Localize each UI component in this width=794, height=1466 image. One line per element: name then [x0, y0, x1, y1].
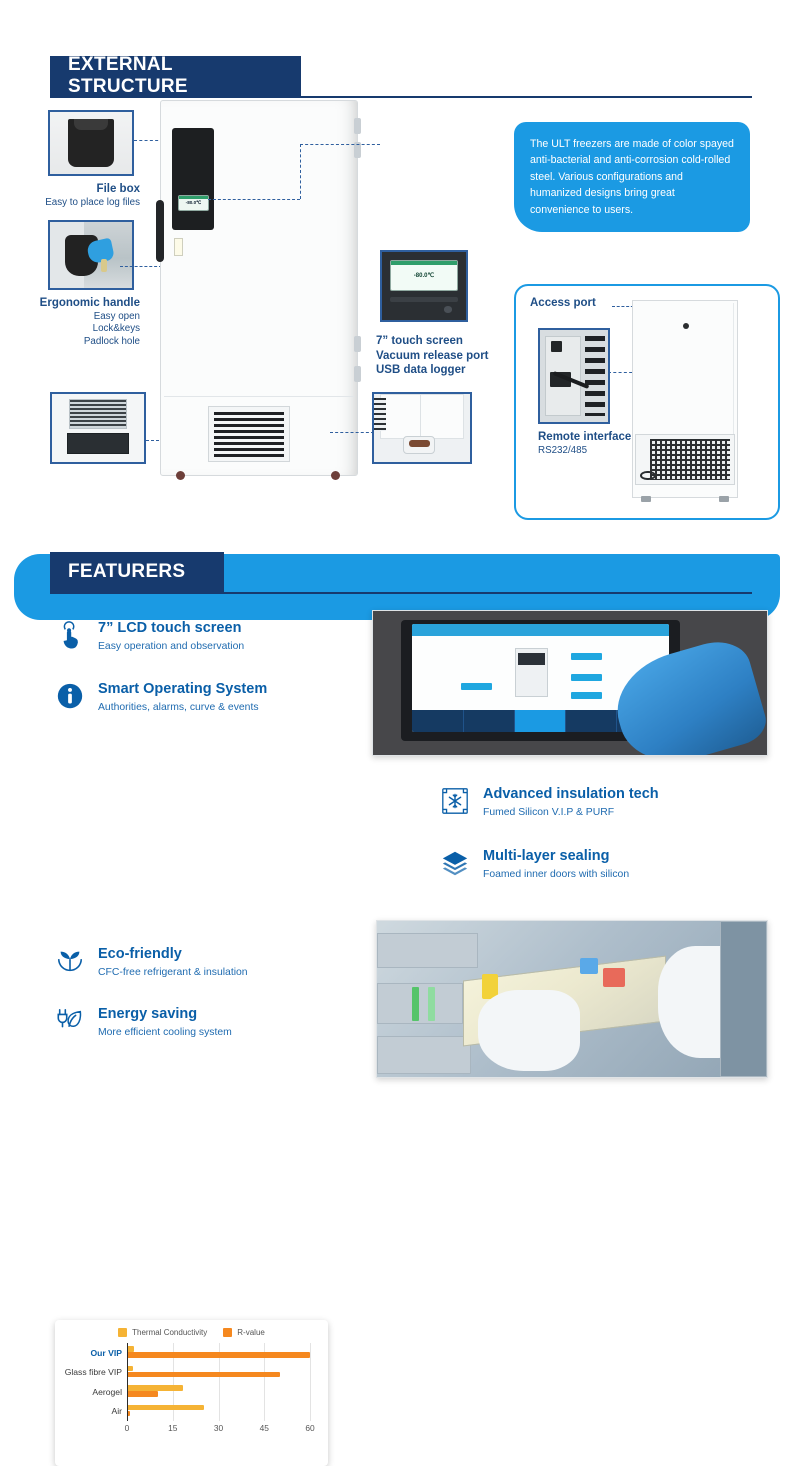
access-port-card: Access port Remote interface RS2: [514, 284, 780, 520]
access-port-knob: [683, 323, 689, 329]
legend-swatch-1: [223, 1328, 232, 1337]
ergonomic-handle-title: Ergonomic handle: [8, 296, 140, 311]
chart-gridline: [310, 1343, 311, 1421]
connector-screen-h1: [208, 199, 300, 200]
chart-category-label: Air: [111, 1406, 122, 1416]
feature-title-4: Eco-friendly: [98, 946, 248, 963]
section-title-external: EXTERNAL STRUCTURE: [68, 54, 283, 98]
connector-handle: [120, 266, 162, 267]
info-circle-icon: [55, 681, 85, 711]
file-box-title: File box: [20, 182, 140, 197]
connector-screen-h2: [300, 144, 380, 145]
gloved-hand-left: [478, 990, 579, 1071]
connector-screen-v: [300, 144, 301, 199]
thermal-performance-chart: Thermal Conductivity R-value Our VIPGlas…: [55, 1320, 328, 1466]
feature-subtitle-5: More efficient cooling system: [98, 1027, 232, 1038]
freezer-control-panel: [172, 128, 214, 230]
ergonomic-handle-line-2: Padlock hole: [8, 336, 140, 349]
photo-remote-interface: [538, 328, 610, 424]
photo-touch-screen: -80.0℃: [380, 250, 468, 322]
freezer-hinge-top: [354, 118, 361, 134]
chart-row: Glass fibre VIP: [128, 1364, 310, 1384]
chart-tick-label: 30: [214, 1423, 223, 1433]
feature-item-smart-operating-system: Smart Operating System Authorities, alar…: [55, 681, 365, 713]
chart-category-label: Aerogel: [92, 1387, 122, 1397]
legend-label-1: R-value: [237, 1328, 265, 1337]
chart-bar: [128, 1352, 310, 1358]
chart-category-label: Our VIP: [90, 1348, 122, 1358]
feature-subtitle-4: CFC-free refrigerant & insulation: [98, 967, 248, 978]
freezer-caster-left: [176, 471, 185, 480]
feature-subtitle-3: Foamed inner doors with silicon: [483, 869, 629, 880]
label-file-box: File box Easy to place log files: [20, 182, 140, 209]
freezer-hinge-lower: [354, 336, 361, 352]
power-cord: [640, 471, 656, 481]
photo-touchscreen-operation: [372, 610, 768, 756]
chart-row: Air: [128, 1403, 310, 1423]
feature-title-2: Advanced insulation tech: [483, 786, 659, 803]
chart-row: Aerogel: [128, 1383, 310, 1403]
chart-tick-label: 45: [260, 1423, 269, 1433]
section-tab-featurers: FEATURERS: [50, 552, 224, 592]
feature-title-3: Multi-layer sealing: [483, 848, 629, 865]
photo-file-box: [48, 110, 134, 176]
chart-plot-area: Our VIPGlass fibre VIPAerogelAir01530456…: [127, 1343, 310, 1435]
section-rule-featurers: [50, 592, 752, 594]
chart-bar: [128, 1385, 183, 1391]
touch-screen-photo-value: -80.0℃: [414, 272, 434, 279]
chart-bar: [128, 1372, 280, 1378]
feature-item-advanced-insulation: Advanced insulation tech Fumed Silicon V…: [440, 786, 760, 818]
legend-item-0: Thermal Conductivity: [118, 1328, 207, 1337]
chart-tick-label: 15: [168, 1423, 177, 1433]
feature-item-energy-saving: Energy saving More efficient cooling sys…: [55, 1006, 375, 1038]
chart-bar: [128, 1405, 204, 1411]
chart-row: Our VIP: [128, 1344, 310, 1364]
touch-hand-icon: [55, 620, 85, 650]
freezer-rear-illustration: [632, 300, 738, 498]
section-tab-external: EXTERNAL STRUCTURE: [50, 56, 301, 96]
layers-icon: [440, 848, 470, 878]
feature-title-5: Energy saving: [98, 1006, 232, 1023]
quick-release-filter-subtitle: Easy open & Quick clean: [26, 485, 216, 498]
photo-heavy-duty-castors: [372, 392, 472, 464]
freezer-door-handle: [156, 200, 164, 262]
chart-legend: Thermal Conductivity R-value: [65, 1328, 318, 1337]
freezer-hinge-bottom: [354, 366, 361, 382]
photo-quick-release-filter: [50, 392, 146, 464]
section-header-external: EXTERNAL STRUCTURE: [50, 56, 752, 98]
freezer-display-value: -80.0℃: [186, 200, 202, 206]
feature-item-multi-layer-sealing: Multi-layer sealing Foamed inner doors w…: [440, 848, 760, 880]
feature-title-1: Smart Operating System: [98, 681, 267, 698]
chart-bar: [128, 1366, 133, 1372]
chart-bar: [128, 1391, 158, 1397]
feature-item-eco-friendly: Eco-friendly CFC-free refrigerant & insu…: [55, 946, 375, 978]
freezer-front-illustration: -80.0℃: [160, 100, 358, 476]
ergonomic-handle-line-0: Easy open: [8, 311, 140, 324]
photo-ergonomic-handle: [48, 220, 134, 290]
legend-label-0: Thermal Conductivity: [132, 1328, 207, 1337]
section-header-featurers: FEATURERS: [50, 552, 752, 594]
freezer-base-grill: [208, 406, 290, 462]
legend-swatch-0: [118, 1328, 127, 1337]
plug-leaf-icon: [55, 1006, 85, 1036]
callout-material-description: The ULT freezers are made of color spaye…: [514, 122, 750, 232]
freezer-caster-right: [331, 471, 340, 480]
photo-sample-rack: [376, 920, 768, 1078]
connector-castors: [330, 432, 374, 433]
feature-subtitle-1: Authorities, alarms, curve & events: [98, 702, 267, 713]
chart-bar: [128, 1346, 134, 1352]
chart-x-ticks: 015304560: [127, 1421, 310, 1435]
chart-tick-label: 60: [305, 1423, 314, 1433]
snowflake-box-icon: [440, 786, 470, 816]
feature-title-0: 7” LCD touch screen: [98, 620, 244, 637]
callout-text: The ULT freezers are made of color spaye…: [530, 138, 734, 216]
brochure-page: EXTERNAL STRUCTURE File box Easy to plac…: [0, 0, 794, 1122]
chart-tick-label: 0: [125, 1423, 130, 1433]
legend-item-1: R-value: [223, 1328, 265, 1337]
label-ergonomic-handle: Ergonomic handle Easy open Lock&keys Pad…: [8, 296, 140, 348]
file-box-subtitle: Easy to place log files: [20, 197, 140, 210]
feature-item-lcd-touch-screen: 7” LCD touch screen Easy operation and o…: [55, 620, 355, 652]
feature-subtitle-0: Easy operation and observation: [98, 641, 244, 652]
freezer-display-screen: -80.0℃: [178, 195, 209, 211]
chart-bar: [128, 1411, 130, 1417]
feature-subtitle-2: Fumed Silicon V.I.P & PURF: [483, 807, 659, 818]
external-structure-section: File box Easy to place log files Ergonom…: [0, 96, 794, 536]
freezer-warning-sticker: [174, 238, 183, 256]
ergonomic-handle-line-1: Lock&keys: [8, 323, 140, 336]
chart-category-label: Glass fibre VIP: [65, 1367, 122, 1377]
section-title-featurers: FEATURERS: [68, 561, 185, 583]
eco-leaf-icon: [55, 946, 85, 976]
